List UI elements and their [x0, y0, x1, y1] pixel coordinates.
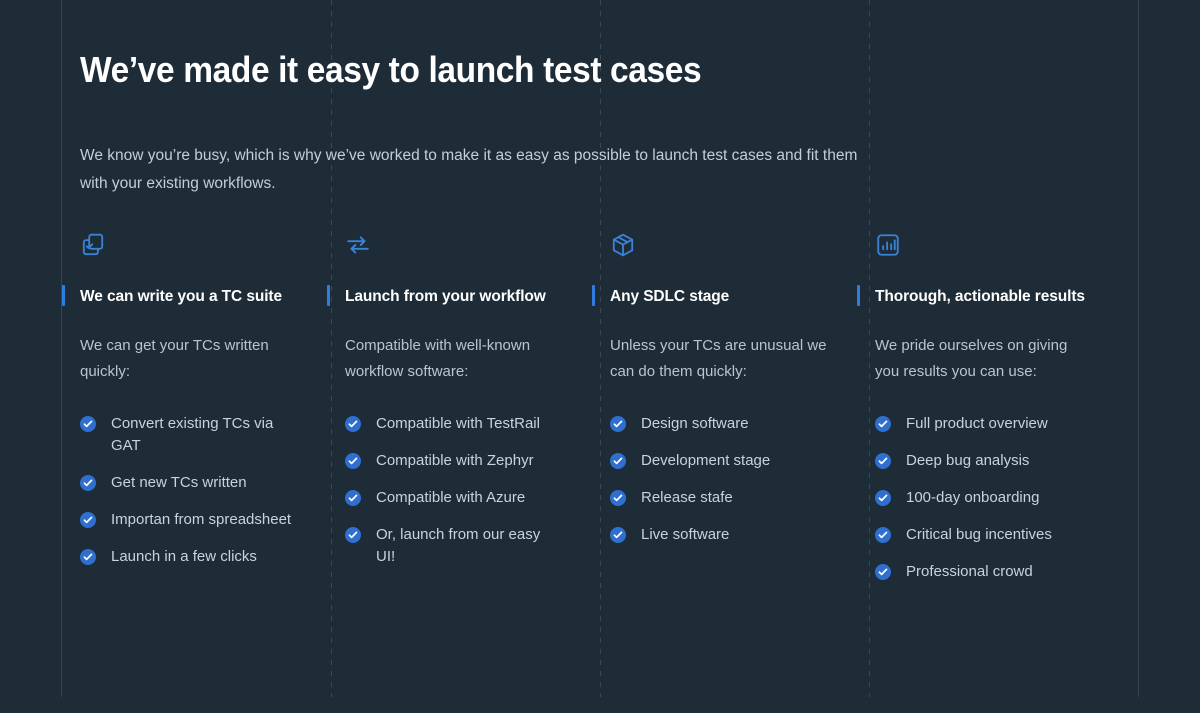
feature-list-2: Compatible with TestRail Compatible with…	[345, 413, 574, 568]
feature-heading-2: Launch from your workflow	[345, 288, 546, 306]
list-item: Convert existing TCs via GAT	[80, 413, 309, 457]
accent-bar-4	[857, 285, 860, 306]
list-item-label: Professional crowd	[906, 561, 1092, 583]
features-section: We’ve made it easy to launch test cases …	[0, 0, 1200, 713]
feature-list-3: Design software Development stage Releas…	[610, 413, 839, 546]
list-item-label: Live software	[641, 524, 827, 546]
list-item: Live software	[610, 524, 839, 546]
check-circle-icon	[610, 416, 626, 432]
check-circle-icon	[610, 490, 626, 506]
check-circle-icon	[875, 453, 891, 469]
check-circle-icon	[80, 475, 96, 491]
feature-list-4: Full product overview Deep bug analysis …	[875, 413, 1104, 583]
list-item: Compatible with TestRail	[345, 413, 574, 435]
list-item: Compatible with Azure	[345, 487, 574, 509]
section-subheading: We know you’re busy, which is why we’ve …	[80, 142, 870, 198]
list-item-label: Importan from spreadsheet	[111, 509, 297, 531]
box-cube-icon	[610, 228, 839, 262]
list-item: Critical bug incentives	[875, 524, 1104, 546]
feature-column-2: Launch from your workflow Compatible wit…	[345, 228, 610, 598]
feature-column-1: We can write you a TC suite We can get y…	[80, 228, 345, 598]
feature-heading-row-1: We can write you a TC suite	[80, 286, 309, 308]
list-item: Importan from spreadsheet	[80, 509, 309, 531]
feature-description-1: We can get your TCs written quickly:	[80, 333, 300, 385]
list-item: Release stafe	[610, 487, 839, 509]
list-item: Or, launch from our easy UI!	[345, 524, 574, 568]
accent-bar-3	[592, 285, 595, 306]
check-circle-icon	[875, 416, 891, 432]
feature-heading-1: We can write you a TC suite	[80, 288, 282, 306]
check-circle-icon	[610, 527, 626, 543]
feature-description-4: We pride ourselves on giving you results…	[875, 333, 1095, 385]
feature-heading-row-4: Thorough, actionable results	[875, 286, 1104, 308]
list-item-label: 100-day onboarding	[906, 487, 1092, 509]
list-item: Development stage	[610, 450, 839, 472]
list-item: Deep bug analysis	[875, 450, 1104, 472]
feature-description-2: Compatible with well-known workflow soft…	[345, 333, 565, 385]
feature-columns: We can write you a TC suite We can get y…	[80, 228, 1140, 598]
list-item-label: Get new TCs written	[111, 472, 297, 494]
list-item-label: Full product overview	[906, 413, 1092, 435]
feature-column-4: Thorough, actionable results We pride ou…	[875, 228, 1140, 598]
list-item-label: Compatible with Azure	[376, 487, 562, 509]
check-circle-icon	[610, 453, 626, 469]
list-item: Design software	[610, 413, 839, 435]
list-item: Full product overview	[875, 413, 1104, 435]
list-item-label: Launch in a few clicks	[111, 546, 297, 568]
list-item: Get new TCs written	[80, 472, 309, 494]
feature-list-1: Convert existing TCs via GAT Get new TCs…	[80, 413, 309, 568]
feature-heading-row-2: Launch from your workflow	[345, 286, 574, 308]
check-circle-icon	[80, 416, 96, 432]
exchange-arrows-icon	[345, 228, 574, 262]
page-title: We’ve made it easy to launch test cases	[80, 48, 701, 92]
check-circle-icon	[345, 416, 361, 432]
feature-description-3: Unless your TCs are unusual we can do th…	[610, 333, 830, 385]
check-circle-icon	[875, 564, 891, 580]
list-item: 100-day onboarding	[875, 487, 1104, 509]
check-circle-icon	[875, 527, 891, 543]
check-circle-icon	[345, 527, 361, 543]
list-item-label: Deep bug analysis	[906, 450, 1092, 472]
list-item-label: Or, launch from our easy UI!	[376, 524, 562, 568]
clipboard-check-icon	[80, 228, 309, 262]
feature-column-3: Any SDLC stage Unless your TCs are unusu…	[610, 228, 875, 598]
feature-heading-4: Thorough, actionable results	[875, 288, 1085, 306]
list-item-label: Design software	[641, 413, 827, 435]
check-circle-icon	[80, 512, 96, 528]
feature-heading-row-3: Any SDLC stage	[610, 286, 839, 308]
bar-chart-square-icon	[875, 228, 1104, 262]
list-item: Professional crowd	[875, 561, 1104, 583]
list-item-label: Convert existing TCs via GAT	[111, 413, 297, 457]
accent-bar-1	[62, 285, 65, 306]
check-circle-icon	[80, 549, 96, 565]
list-item: Launch in a few clicks	[80, 546, 309, 568]
check-circle-icon	[345, 453, 361, 469]
list-item-label: Compatible with TestRail	[376, 413, 562, 435]
feature-heading-3: Any SDLC stage	[610, 288, 729, 306]
check-circle-icon	[345, 490, 361, 506]
list-item-label: Critical bug incentives	[906, 524, 1092, 546]
check-circle-icon	[875, 490, 891, 506]
list-item-label: Compatible with Zephyr	[376, 450, 562, 472]
list-item-label: Release stafe	[641, 487, 827, 509]
accent-bar-2	[327, 285, 330, 306]
list-item-label: Development stage	[641, 450, 827, 472]
list-item: Compatible with Zephyr	[345, 450, 574, 472]
